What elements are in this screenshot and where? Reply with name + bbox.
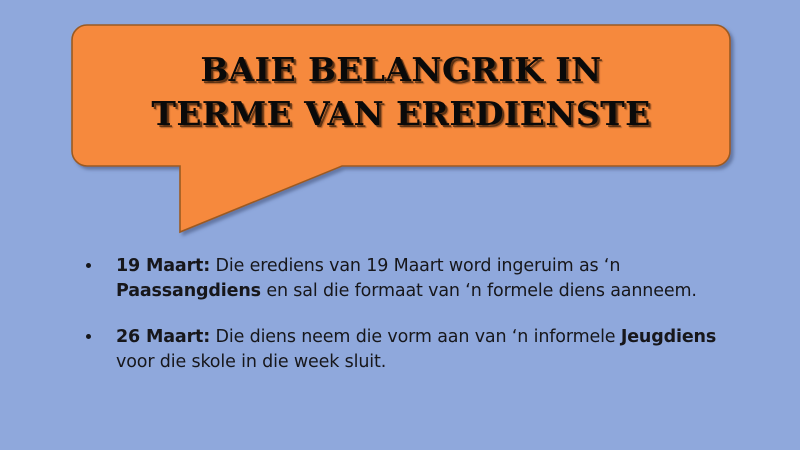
list-item: 19 Maart: Die erediens van 19 Maart word… bbox=[78, 254, 738, 303]
bullet-text-part2: en sal die formaat van ‘n formele diens … bbox=[261, 281, 697, 301]
bullet-marker-icon bbox=[86, 334, 91, 339]
bullet-lead-label: 26 Maart: bbox=[116, 327, 210, 347]
slide-canvas: BAIE BELANGRIK IN TERME VAN EREDIENSTE 1… bbox=[0, 0, 800, 450]
speech-bubble-shape bbox=[0, 0, 800, 450]
bullet-text-part2: voor die skole in die week sluit. bbox=[116, 352, 386, 372]
bullet-marker-icon bbox=[86, 263, 91, 268]
callout-title: BAIE BELANGRIK IN TERME VAN EREDIENSTE bbox=[74, 48, 728, 136]
list-item: 26 Maart: Die diens neem die vorm aan va… bbox=[78, 325, 738, 374]
bullet-emphasis: Jeugdiens bbox=[621, 327, 716, 347]
bullet-lead-label: 19 Maart: bbox=[116, 256, 210, 276]
speech-bubble-callout: BAIE BELANGRIK IN TERME VAN EREDIENSTE bbox=[0, 0, 800, 450]
bullet-text-part1: Die erediens van 19 Maart word ingeruim … bbox=[210, 256, 620, 276]
bubble-body bbox=[72, 25, 730, 232]
bullet-list: 19 Maart: Die erediens van 19 Maart word… bbox=[78, 254, 738, 374]
bullet-emphasis: Paassangdiens bbox=[116, 281, 261, 301]
bullet-text-part1: Die diens neem die vorm aan van ‘n infor… bbox=[210, 327, 621, 347]
